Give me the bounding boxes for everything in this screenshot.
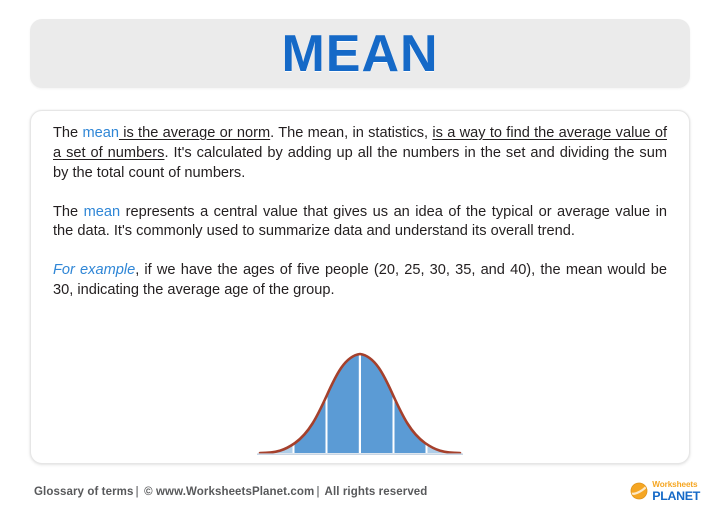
p2-seg1: The (53, 204, 84, 220)
footer: Glossary of terms| © www.WorksheetsPlane… (0, 474, 720, 509)
paragraph-example: For example, if we have the ages of five… (53, 261, 667, 301)
worksheets-planet-logo[interactable]: Worksheets PLANET (629, 481, 700, 503)
p1-keyword-mean: mean (82, 125, 119, 141)
divider-mean (359, 343, 361, 455)
page-title: MEAN (281, 28, 438, 80)
p3-seg2: , if we have the ages of five people (20… (53, 262, 667, 298)
p1-seg4: . The mean, in statistics, (270, 125, 432, 141)
p3-keyword-for-example: For example (53, 262, 135, 278)
logo-top-word: Worksheets (652, 481, 700, 489)
planet-icon (629, 481, 649, 501)
paragraph-definition: The mean is the average or norm. The mea… (53, 124, 667, 184)
footer-credits: Glossary of terms| © www.WorksheetsPlane… (34, 486, 427, 498)
footer-glossary-label: Glossary of terms (34, 486, 134, 498)
footer-website[interactable]: www.WorksheetsPlanet.com (156, 486, 314, 498)
definition-body: The mean is the average or norm. The mea… (31, 111, 689, 301)
divider-plus-2sd (426, 343, 428, 455)
p2-keyword-mean: mean (84, 204, 121, 220)
logo-wordmark: Worksheets PLANET (652, 481, 700, 503)
footer-separator-1: | (134, 486, 141, 498)
footer-separator-2: | (314, 486, 321, 498)
paragraph-central-value: The mean represents a central value that… (53, 203, 667, 243)
p1-underline-1: is the average or norm (119, 125, 270, 141)
logo-bottom-word: PLANET (652, 490, 700, 502)
p1-seg1: The (53, 125, 82, 141)
title-card: MEAN (30, 19, 690, 88)
bell-curve-figure (31, 343, 689, 459)
definition-card: The mean is the average or norm. The mea… (30, 110, 690, 464)
curve-bands (257, 343, 463, 455)
copyright-icon: © (144, 486, 153, 498)
normal-distribution-chart (257, 343, 463, 459)
divider-minus-2sd (293, 343, 295, 455)
footer-rights: All rights reserved (325, 486, 428, 498)
p2-seg3: represents a central value that gives us… (53, 204, 667, 240)
